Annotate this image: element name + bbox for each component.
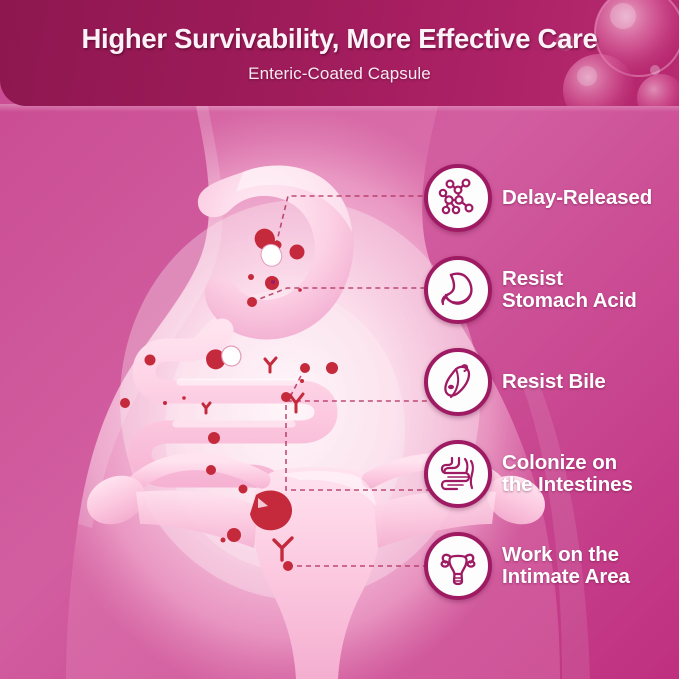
- feature-item-delay-released[interactable]: Delay-Released: [424, 160, 652, 236]
- molecule-network-icon: [424, 164, 492, 232]
- lactobacillus-rods: [203, 358, 303, 560]
- uterus-icon: [424, 532, 492, 600]
- feature-label-resist-stomach-acid: Resist Stomach Acid: [502, 268, 637, 312]
- infographic-poster: Higher Survivability, More Effective Car…: [0, 0, 679, 679]
- feature-label-work-intimate-area: Work on the Intimate Area: [502, 544, 630, 588]
- probiotic-cluster: [250, 491, 292, 531]
- enteric-capsule-intestine: [204, 344, 242, 371]
- page-subtitle: Enteric-Coated Capsule: [0, 64, 679, 84]
- probiotic-bacteria-dots: [120, 241, 338, 572]
- feature-item-resist-stomach-acid[interactable]: Resist Stomach Acid: [424, 252, 637, 328]
- feature-item-resist-bile[interactable]: Resist Bile: [424, 344, 606, 420]
- page-title: Higher Survivability, More Effective Car…: [0, 23, 679, 55]
- feature-label-colonize-intestines: Colonize on the Intestines: [502, 452, 633, 496]
- feature-label-resist-bile: Resist Bile: [502, 371, 606, 393]
- feature-label-delay-released: Delay-Released: [502, 187, 652, 209]
- feature-item-colonize-intestines[interactable]: Colonize on the Intestines: [424, 436, 633, 512]
- feature-item-work-intimate-area[interactable]: Work on the Intimate Area: [424, 528, 630, 604]
- stomach-icon: [424, 256, 492, 324]
- intestines-icon: [424, 440, 492, 508]
- gallbladder-icon: [424, 348, 492, 416]
- header-banner: Higher Survivability, More Effective Car…: [0, 0, 679, 106]
